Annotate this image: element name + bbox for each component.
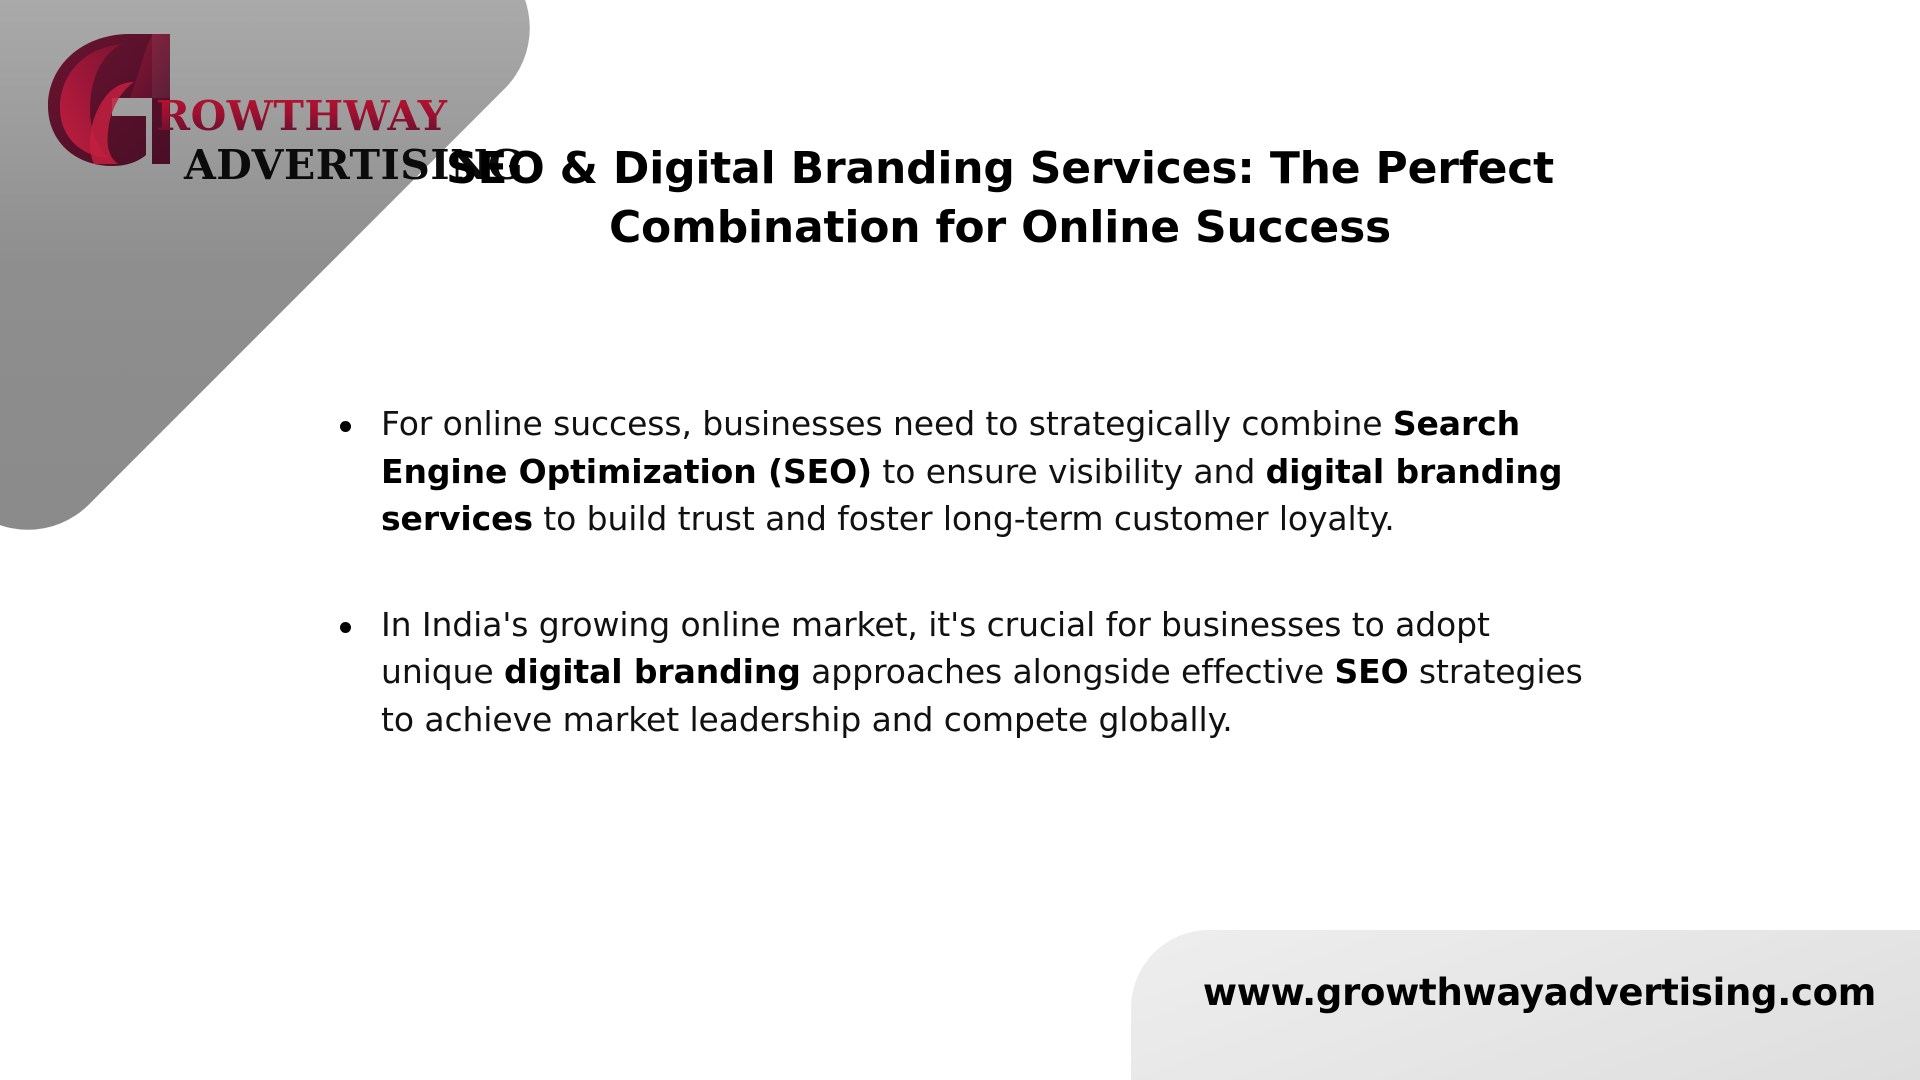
bullet-list: For online success, businesses need to s… <box>340 400 1600 743</box>
slide-title-line1: SEO & Digital Branding Services: The Per… <box>446 143 1554 194</box>
bullet-dot-icon <box>340 622 351 633</box>
slide-canvas: ROWTHWAY ADVERTISING SEO & Digital Brand… <box>0 0 1920 1080</box>
bullet-dot-icon <box>340 421 351 432</box>
website-url-text: www.growthwayadvertising.com <box>1203 971 1876 1014</box>
brand-logo: ROWTHWAY ADVERTISING <box>28 18 468 188</box>
slide-title: SEO & Digital Branding Services: The Per… <box>410 140 1590 257</box>
logo-wordmark-line1: ROWTHWAY <box>156 96 476 137</box>
list-item: For online success, businesses need to s… <box>340 400 1600 543</box>
bullet-text: In India's growing online market, it's c… <box>381 601 1600 744</box>
website-url-badge[interactable]: www.growthwayadvertising.com <box>1131 930 1920 1080</box>
list-item: In India's growing online market, it's c… <box>340 601 1600 744</box>
bullet-text: For online success, businesses need to s… <box>381 400 1600 543</box>
slide-title-line2: Combination for Online Success <box>609 202 1391 253</box>
